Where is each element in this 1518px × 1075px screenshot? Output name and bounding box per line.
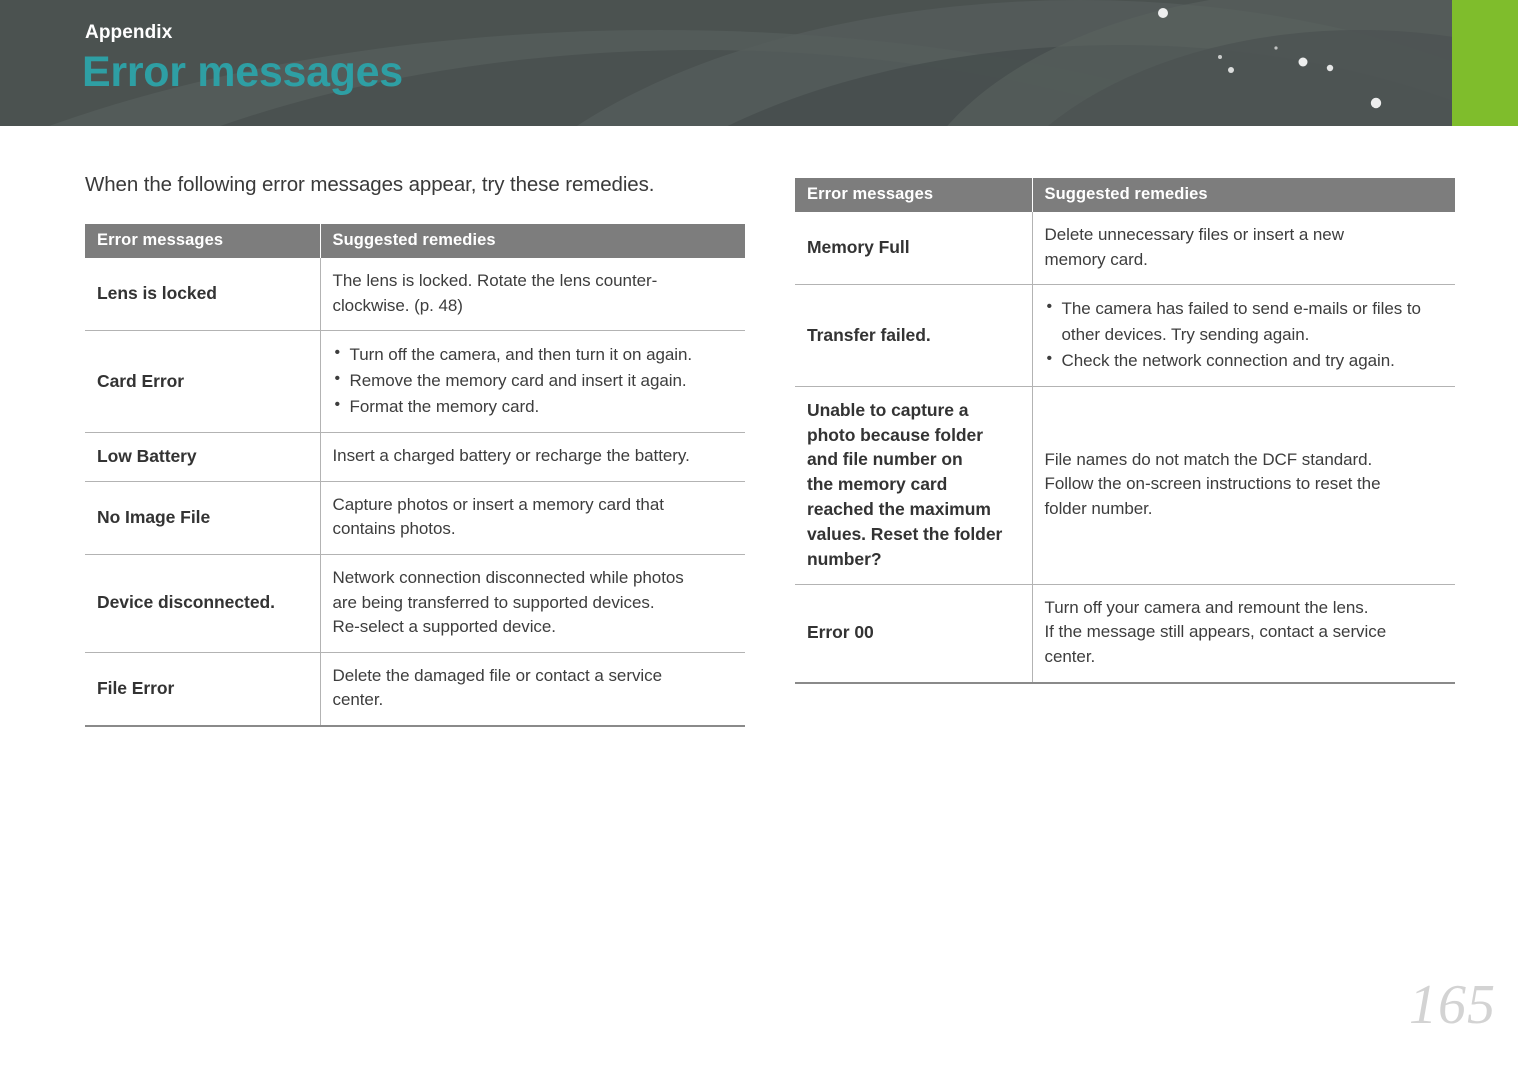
remedy-bullet-list: The camera has failed to send e-mails or… (1045, 296, 1444, 373)
remedy-line: contains photos. (333, 519, 456, 538)
suggested-remedy-cell: Delete unnecessary files or insert a new… (1032, 212, 1455, 285)
error-message-cell: Transfer failed. (795, 285, 1032, 386)
remedy-line: File names do not match the DCF standard… (1045, 450, 1373, 469)
remedy-line: If the message still appears, contact a … (1045, 622, 1387, 641)
table-row: Unable to capture a photo because folder… (795, 386, 1455, 584)
column-header-error-messages: Error messages (85, 224, 320, 258)
table-row: No Image File Capture photos or insert a… (85, 481, 745, 554)
remedy-bullet-item: Check the network connection and try aga… (1045, 348, 1444, 374)
error-messages-table-left: Error messages Suggested remedies Lens i… (85, 224, 745, 727)
remedy-line: folder number. (1045, 499, 1153, 518)
suggested-remedy-cell: Delete the damaged file or contact a ser… (320, 652, 745, 726)
header-section-label: Appendix (85, 22, 172, 44)
remedy-line: center. (333, 690, 384, 709)
remedy-line: clockwise. (p. 48) (333, 296, 463, 315)
remedy-line: Capture photos or insert a memory card t… (333, 495, 664, 514)
suggested-remedy-cell: Turn off the camera, and then turn it on… (320, 331, 745, 432)
error-message-line: number? (807, 549, 882, 569)
remedy-line: Insert a charged battery or recharge the… (333, 446, 690, 465)
error-message-line: reached the maximum (807, 499, 991, 519)
table-row: Device disconnected. Network connection … (85, 554, 745, 652)
error-message-cell: Card Error (85, 331, 320, 432)
remedy-bullet-item: Remove the memory card and insert it aga… (333, 368, 734, 394)
table-row: Card Error Turn off the camera, and then… (85, 331, 745, 432)
suggested-remedy-cell: The camera has failed to send e-mails or… (1032, 285, 1455, 386)
table-left-head: Error messages Suggested remedies (85, 224, 745, 258)
remedy-line: are being transferred to supported devic… (333, 593, 655, 612)
error-message-line: Unable to capture a (807, 400, 968, 420)
error-message-cell: File Error (85, 652, 320, 726)
table-row: Lens is locked The lens is locked. Rotat… (85, 258, 745, 331)
column-header-suggested-remedies: Suggested remedies (1032, 178, 1455, 212)
page-title: Error messages (82, 50, 403, 95)
remedy-bullet-item: Format the memory card. (333, 394, 734, 420)
error-message-cell: Low Battery (85, 432, 320, 481)
suggested-remedy-cell: Insert a charged battery or recharge the… (320, 432, 745, 481)
page-number: 165 (1409, 973, 1496, 1037)
error-message-cell: Unable to capture a photo because folder… (795, 386, 1032, 584)
remedy-line: center. (1045, 647, 1096, 666)
error-message-cell: Device disconnected. (85, 554, 320, 652)
remedy-line: The lens is locked. Rotate the lens coun… (333, 271, 658, 290)
error-message-line: photo because folder (807, 425, 983, 445)
table-right-body: Memory Full Delete unnecessary files or … (795, 212, 1455, 683)
suggested-remedy-cell: Capture photos or insert a memory card t… (320, 481, 745, 554)
error-message-cell: No Image File (85, 481, 320, 554)
error-message-line: the memory card (807, 474, 947, 494)
error-messages-table-right: Error messages Suggested remedies Memory… (795, 178, 1455, 684)
intro-text: When the following error messages appear… (85, 173, 654, 197)
suggested-remedy-cell: The lens is locked. Rotate the lens coun… (320, 258, 745, 331)
column-header-error-messages: Error messages (795, 178, 1032, 212)
remedy-bullet-item: The camera has failed to send e-mails or… (1045, 296, 1444, 348)
table-header-row: Error messages Suggested remedies (795, 178, 1455, 212)
error-message-line: values. Reset the folder (807, 524, 1002, 544)
suggested-remedy-cell: File names do not match the DCF standard… (1032, 386, 1455, 584)
remedy-line: memory card. (1045, 250, 1148, 269)
error-message-cell: Error 00 (795, 584, 1032, 682)
suggested-remedy-cell: Turn off your camera and remount the len… (1032, 584, 1455, 682)
remedy-line: Network connection disconnected while ph… (333, 568, 684, 587)
table-row: Transfer failed. The camera has failed t… (795, 285, 1455, 386)
error-message-line: and file number on (807, 449, 963, 469)
table-header-row: Error messages Suggested remedies (85, 224, 745, 258)
document-page: Appendix Error messages When the followi… (0, 0, 1518, 1075)
remedy-line: Delete unnecessary files or insert a new (1045, 225, 1344, 244)
remedy-line: Re-select a supported device. (333, 617, 556, 636)
remedy-bullet-list: Turn off the camera, and then turn it on… (333, 342, 734, 419)
header-accent-bar (1452, 0, 1518, 126)
table-left-body: Lens is locked The lens is locked. Rotat… (85, 258, 745, 726)
page-header-banner: Appendix Error messages (0, 0, 1518, 126)
table-row: File Error Delete the damaged file or co… (85, 652, 745, 726)
remedy-bullet-item: Turn off the camera, and then turn it on… (333, 342, 734, 368)
remedy-line: Delete the damaged file or contact a ser… (333, 666, 662, 685)
table-right-head: Error messages Suggested remedies (795, 178, 1455, 212)
table-row: Memory Full Delete unnecessary files or … (795, 212, 1455, 285)
error-message-cell: Lens is locked (85, 258, 320, 331)
table-row: Error 00 Turn off your camera and remoun… (795, 584, 1455, 682)
table-row: Low Battery Insert a charged battery or … (85, 432, 745, 481)
remedy-line: Follow the on-screen instructions to res… (1045, 474, 1381, 493)
remedy-line: Turn off your camera and remount the len… (1045, 598, 1369, 617)
error-message-cell: Memory Full (795, 212, 1032, 285)
column-header-suggested-remedies: Suggested remedies (320, 224, 745, 258)
suggested-remedy-cell: Network connection disconnected while ph… (320, 554, 745, 652)
